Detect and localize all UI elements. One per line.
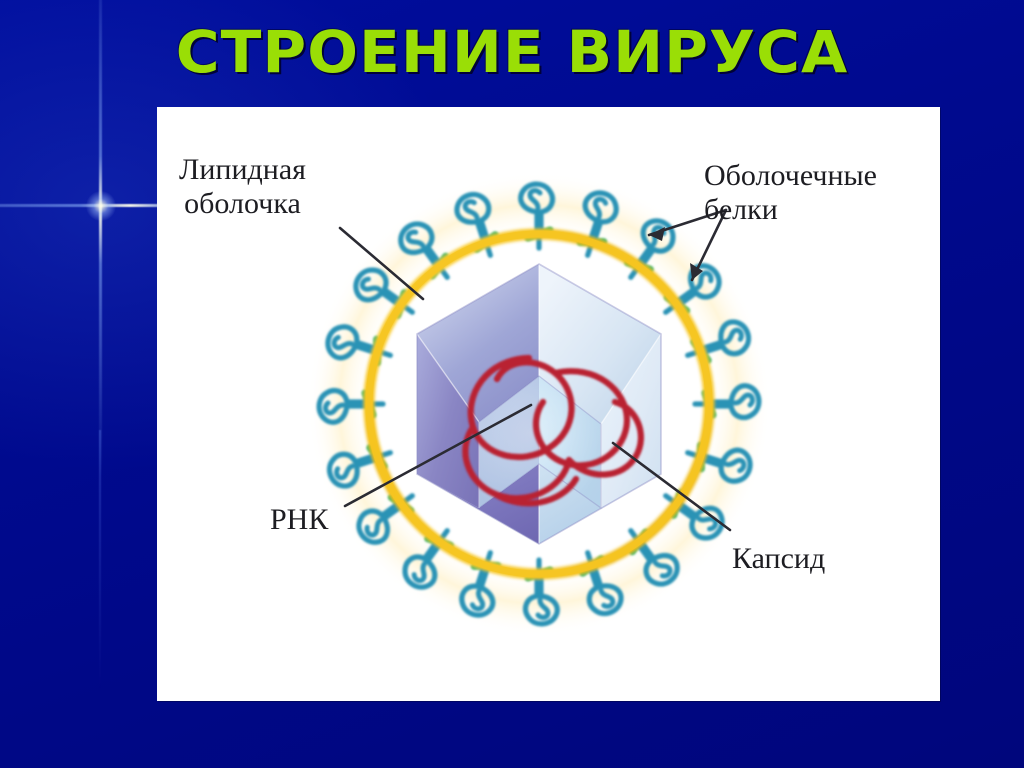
label-envelope-proteins: Оболочечные белки — [704, 159, 877, 226]
label-rna: РНК — [270, 503, 328, 537]
label-capsid: Капсид — [732, 542, 825, 576]
label-lipid-envelope: Липидная оболочка — [179, 153, 306, 220]
label-envelope-proteins-line2: белки — [704, 193, 877, 227]
label-lipid-envelope-line2: оболочка — [179, 187, 306, 221]
label-envelope-proteins-line1: Оболочечные — [704, 159, 877, 192]
background-flare-core — [86, 191, 116, 221]
presentation-slide: СТРОЕНИЕ ВИРУСА — [0, 0, 1024, 768]
background-flare-vertical-secondary — [99, 430, 101, 690]
virus-particle — [307, 114, 771, 636]
content-panel: Липидная оболочка Оболочечные белки РНК … — [157, 107, 940, 701]
label-lipid-envelope-line1: Липидная — [179, 153, 306, 186]
capsid — [405, 114, 672, 544]
slide-title: СТРОЕНИЕ ВИРУСА — [0, 18, 1024, 86]
